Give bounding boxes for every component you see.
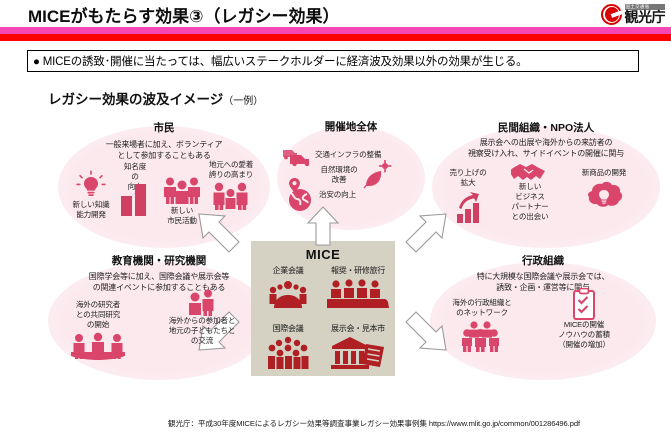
mice-item-1: 報奨・研修旅行 [323, 265, 393, 315]
section-heading-main: レガシー効果の波及イメージ [48, 92, 223, 107]
cluster-education-research-item-0: 海外の研究者 との共同研究 の開始 [62, 300, 134, 360]
cluster-government-item-0: 海外の行政組織と のネットワーク [440, 298, 524, 352]
mice-item-caption: 展示会・見本市 [323, 323, 393, 334]
clipboard-check-icon [571, 288, 597, 320]
japan-tourism-agency-mark-icon [601, 4, 622, 25]
mice-center-box: MICE 企業会議 報奨・研修旅行 [251, 241, 395, 376]
page-header: MICEがもたらす効果③（レガシー効果） 国土交通省 観光庁 [0, 0, 671, 27]
cluster-private-npo-item-2: 新商品の開発 [568, 168, 640, 213]
cluster-education-research-item-1: 海外からの参加者と 地元の子どもたちと の交流 [146, 288, 258, 346]
cluster-host-region-item-2: 治安の向上 [283, 178, 413, 212]
cluster-citizens-item-3: 地元への愛着 誇りの高まり [196, 160, 266, 211]
item-label: 海外からの参加者と 地元の子どもたちと の交流 [169, 316, 236, 345]
researchers-icon [69, 332, 127, 360]
cluster-education-research-title: 教育機関・研究機関 [48, 253, 270, 268]
mice-item-caption: 報奨・研修旅行 [323, 265, 393, 276]
cluster-citizens-item-1: 知名度 の 向上 [113, 162, 157, 216]
page-title: MICEがもたらす効果③（レガシー効果） [28, 2, 340, 27]
item-label: 地元への愛着 誇りの高まり [209, 160, 253, 179]
cluster-private-npo-item-0: 売り上げの 拡大 [440, 168, 496, 224]
legacy-effect-diagram: 市民 一般来場者に加え、ボランティア として参加することもある 新しい知識 能力… [0, 110, 671, 400]
international-convention-icon [262, 336, 314, 370]
cars-icon [281, 144, 313, 166]
lead-callout-box: ● MICEの誘致･開催に当たっては、幅広いステークホルダーに経済波及効果以外の… [27, 50, 639, 72]
network-people-icon [454, 320, 510, 352]
item-label: 海外の行政組織と のネットワーク [452, 298, 511, 317]
item-label: 海外の研究者 との共同研究 の開始 [76, 300, 120, 329]
cluster-citizens-item-0: 新しい知識 能力開発 [62, 170, 120, 220]
item-label: 交通インフラの整備 [315, 150, 381, 159]
item-label: 新商品の開発 [582, 168, 626, 177]
growth-chart-icon [451, 190, 485, 224]
item-label: 新しい ビジネス パートナー との出会い [512, 182, 549, 221]
cluster-government-item-1: MICEの開催 ノウハウの蓄積 （開催の増加） [536, 288, 632, 350]
mice-item-caption: 国際会議 [253, 323, 323, 334]
lead-callout-text: ● MICEの誘致･開催に当たっては、幅広いステークホルダーに経済波及効果以外の… [28, 53, 527, 69]
cluster-private-npo-item-1: 新しい ビジネス パートナー との出会い [500, 160, 560, 221]
cluster-private-npo-title: 民間組織・NPO法人 [432, 120, 660, 135]
source-footnote: 観光庁：平成30年度MICEによるレガシー効果等調査事業レガシー効果事例集 ht… [168, 418, 580, 429]
item-label: 治安の向上 [319, 190, 356, 199]
exchange-people-icon [182, 288, 222, 316]
item-label: 新しい 市民活動 [167, 206, 197, 225]
handshake-icon [511, 160, 549, 182]
header-band-red [0, 34, 671, 41]
mice-item-3: 展示会・見本市 [323, 323, 393, 375]
idea-cloud-icon [582, 181, 626, 213]
globe-person-icon [283, 178, 317, 212]
exhibition-tradefair-icon [330, 336, 386, 370]
item-label: 売り上げの 拡大 [450, 168, 487, 187]
header-band-pink [0, 27, 671, 34]
section-heading: レガシー効果の波及イメージ（一例） [48, 88, 263, 108]
mice-label: MICE [251, 247, 395, 262]
item-label: MICEの開催 ノウハウの蓄積 （開催の増加） [558, 320, 610, 349]
cluster-government-title: 行政組織 [430, 253, 656, 268]
agency-name-label: 観光庁 [625, 10, 666, 24]
mice-item-2: 国際会議 [253, 323, 323, 375]
family-icon [211, 181, 251, 211]
section-heading-sub: （一例） [223, 96, 263, 107]
agency-logo: 国土交通省 観光庁 [601, 2, 666, 26]
cluster-private-npo-desc: 展示会への出展や海外からの来訪者の 視察受け入れ、サイドイベントの開催に関与 [428, 138, 664, 160]
cluster-host-region-title: 開催地全体 [277, 119, 425, 134]
lightbulb-icon [76, 170, 106, 200]
cluster-citizens-desc: 一般来場者に加え、ボランティア として参加することもある [58, 140, 270, 162]
cluster-citizens-title: 市民 [58, 120, 270, 135]
item-label: 新しい知識 能力開発 [73, 200, 110, 219]
incentive-travel-icon [327, 278, 389, 310]
